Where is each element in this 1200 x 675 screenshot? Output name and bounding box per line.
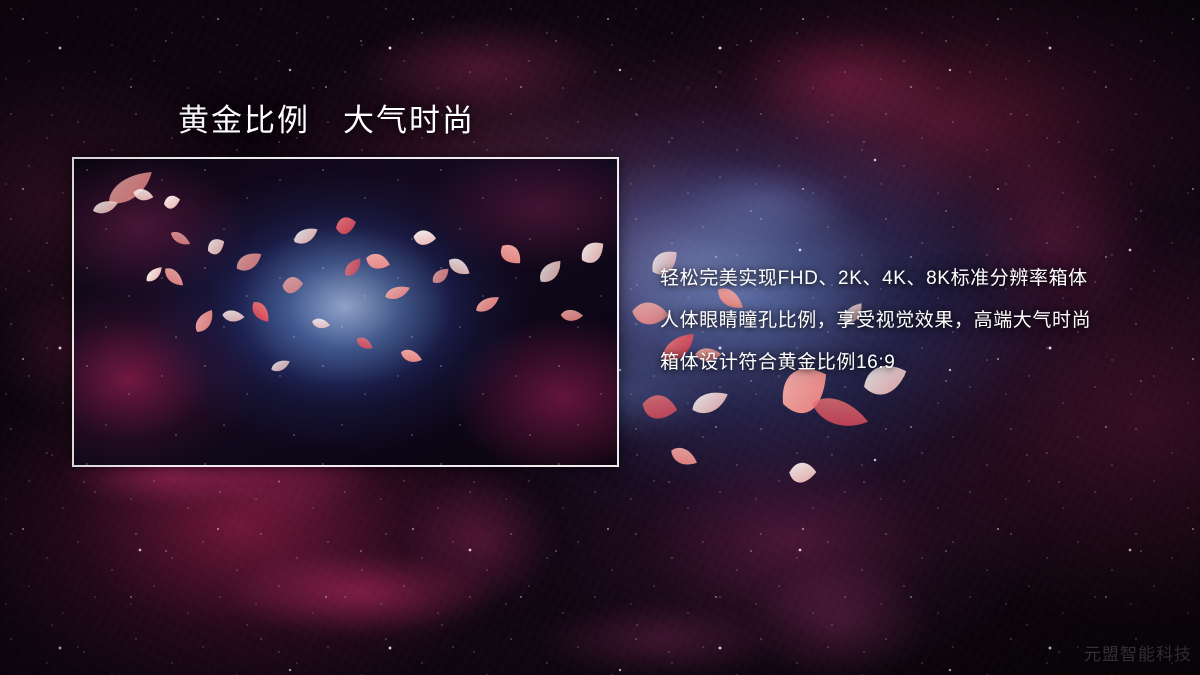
petal	[788, 460, 818, 486]
petal	[639, 390, 680, 426]
framed-nebula-preview[interactable]	[72, 157, 619, 467]
body-text-block: 轻松完美实现FHD、2K、4K、8K标准分辨率箱体 人体眼睛瞳孔比例，享受视觉效…	[660, 258, 1180, 384]
slide-canvas: 黄金比例 大气时尚 轻松完美实现FHD、2K、4K、8K标准分辨率箱体 人体眼睛…	[0, 0, 1200, 675]
petal	[668, 443, 699, 471]
body-line-3: 箱体设计符合黄金比例16:9	[660, 342, 1180, 384]
preview-starfield-icon	[74, 159, 617, 465]
petal	[690, 389, 731, 416]
body-line-1: 轻松完美实现FHD、2K、4K、8K标准分辨率箱体	[660, 258, 1180, 300]
page-title: 黄金比例 大气时尚	[178, 102, 475, 141]
petal	[808, 390, 871, 437]
watermark: 元盟智能科技	[1084, 640, 1192, 665]
body-line-2: 人体眼睛瞳孔比例，享受视觉效果，高端大气时尚	[660, 300, 1180, 342]
